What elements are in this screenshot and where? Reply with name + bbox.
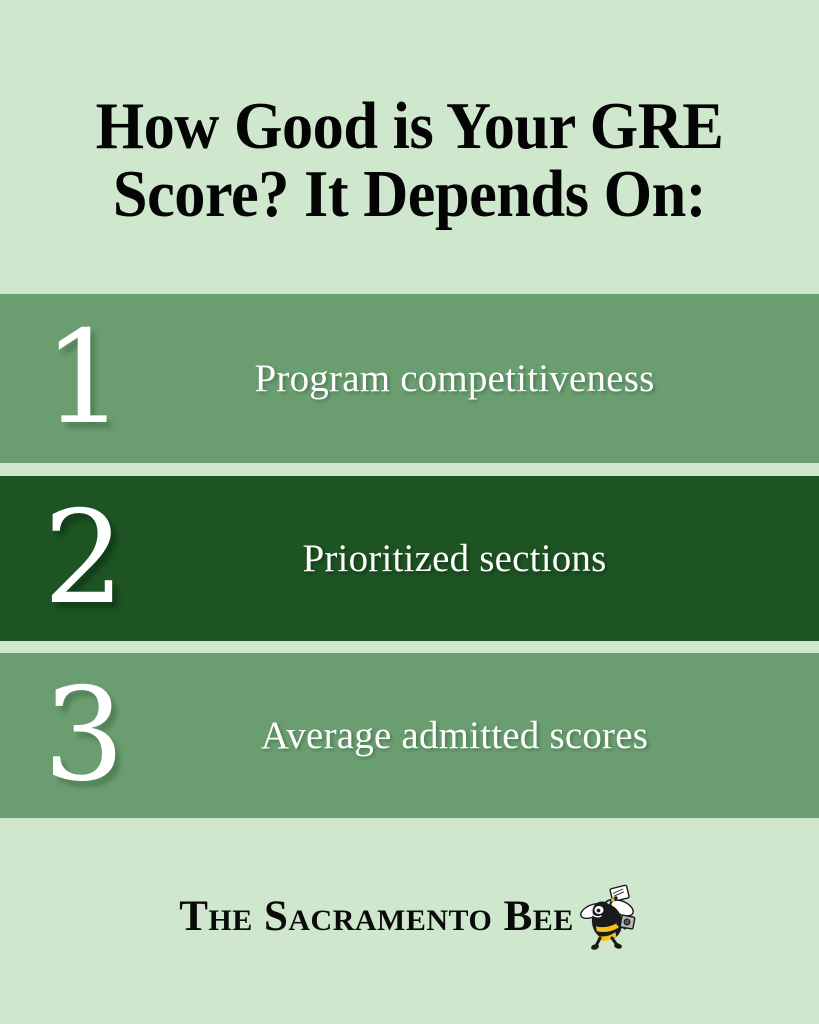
list-item-1: 1 Program competitiveness <box>0 294 819 463</box>
footer-logo: The Sacramento Bee <box>0 884 819 950</box>
item-label-2: Prioritized sections <box>168 536 819 582</box>
item-number-3: 3 <box>0 672 168 800</box>
item-number-2: 2 <box>0 495 168 623</box>
logo-wordmark: The Sacramento Bee <box>179 892 574 942</box>
item-number-1: 1 <box>0 315 168 443</box>
page-title-line-1: How Good is Your GRE <box>60 92 758 160</box>
page-title: How Good is Your GRE Score? It Depends O… <box>0 92 819 228</box>
item-label-3: Average admitted scores <box>168 713 819 759</box>
list-item-2: 2 Prioritized sections <box>0 476 819 641</box>
infographic-poster: How Good is Your GRE Score? It Depends O… <box>0 0 819 1024</box>
page-title-line-2: Score? It Depends On: <box>60 160 758 228</box>
item-label-1: Program competitiveness <box>168 356 819 402</box>
list-item-3: 3 Average admitted scores <box>0 653 819 818</box>
bee-mascot-icon <box>578 884 640 950</box>
